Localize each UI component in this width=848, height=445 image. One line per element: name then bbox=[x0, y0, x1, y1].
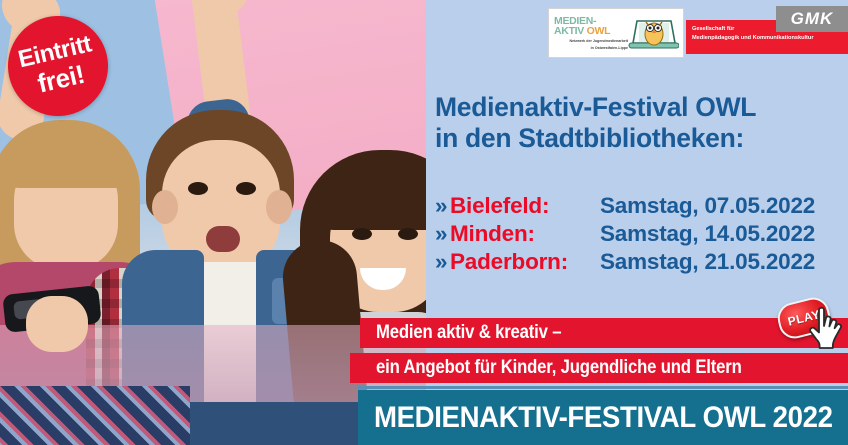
page-title: Medienaktiv-Festival OWL in den Stadtbib… bbox=[435, 92, 847, 154]
child-eye bbox=[352, 228, 372, 240]
child-patterned-leggings bbox=[0, 386, 190, 445]
tagline-line-2: ein Angebot für Kinder, Jugendliche und … bbox=[376, 357, 742, 379]
event-city: Bielefeld: bbox=[450, 192, 600, 220]
event-date: Samstag, 07.05.2022 bbox=[600, 192, 815, 220]
child-fringe bbox=[6, 136, 128, 188]
gmk-logo-line2: Medienpädagogik und Kommunikationskultur bbox=[692, 34, 848, 43]
festival-title: MEDIENAKTIV-FESTIVAL OWL 2022 bbox=[374, 401, 833, 435]
play-button-group[interactable]: PLAY bbox=[778, 298, 848, 360]
tagline-line-1: Medien aktiv & kreativ – bbox=[376, 322, 561, 344]
logo-row: MEDIEN- AKTIV OWL Netzwerk der Jugendmed… bbox=[548, 6, 848, 58]
headline-line-2: in den Stadtbibliotheken: bbox=[435, 123, 847, 154]
list-item: » Minden: Samstag, 14.05.2022 bbox=[435, 220, 847, 248]
child-eye bbox=[188, 182, 208, 195]
headline-line-1: Medienaktiv-Festival OWL bbox=[435, 92, 847, 123]
footer-divider bbox=[358, 386, 848, 389]
event-date: Samstag, 14.05.2022 bbox=[600, 220, 815, 248]
medienaktiv-logo-owl: OWL bbox=[587, 25, 611, 37]
medienaktiv-logo-subtitle-1: Netzwerk der Jugendmedienarbeit bbox=[554, 39, 628, 44]
list-item: » Paderborn: Samstag, 21.05.2022 bbox=[435, 248, 847, 276]
child-eye bbox=[398, 228, 418, 240]
child-hand bbox=[26, 296, 88, 352]
child-mouth bbox=[206, 226, 240, 252]
medienaktiv-logo-aktiv: AKTIV bbox=[554, 25, 584, 37]
bullet-icon: » bbox=[435, 220, 450, 248]
tagline-bar-2: ein Angebot für Kinder, Jugendliche und … bbox=[350, 353, 848, 383]
tagline-bar-1: Medien aktiv & kreativ – bbox=[360, 318, 848, 348]
promotional-banner: Eintritt frei! MEDIEN- AKTIV OWL Netzwer… bbox=[0, 0, 848, 445]
event-date-list: » Bielefeld: Samstag, 07.05.2022 » Minde… bbox=[435, 192, 847, 276]
list-item: » Bielefeld: Samstag, 07.05.2022 bbox=[435, 192, 847, 220]
bullet-icon: » bbox=[435, 192, 450, 220]
medienaktiv-logo-text: MEDIEN- AKTIV OWL Netzwerk der Jugendmed… bbox=[549, 16, 628, 50]
medienaktiv-logo-subtitle-2: in Ostwestfalen-Lippe bbox=[554, 46, 628, 51]
owl-on-laptop-icon bbox=[625, 13, 679, 53]
child-eye bbox=[236, 182, 256, 195]
event-city: Minden: bbox=[450, 220, 600, 248]
child-ear bbox=[266, 190, 292, 224]
event-city: Paderborn: bbox=[450, 248, 600, 276]
pointing-hand-cursor-icon bbox=[806, 304, 846, 356]
gmk-abbreviation: GMK bbox=[776, 6, 848, 32]
event-date: Samstag, 21.05.2022 bbox=[600, 248, 815, 276]
medienaktiv-owl-logo[interactable]: MEDIEN- AKTIV OWL Netzwerk der Jugendmed… bbox=[548, 8, 684, 58]
bullet-icon: » bbox=[435, 248, 450, 276]
child-ear bbox=[152, 190, 178, 224]
medienaktiv-logo-line2: AKTIV OWL bbox=[554, 26, 628, 37]
footer-bar: MEDIENAKTIV-FESTIVAL OWL 2022 bbox=[358, 390, 848, 445]
